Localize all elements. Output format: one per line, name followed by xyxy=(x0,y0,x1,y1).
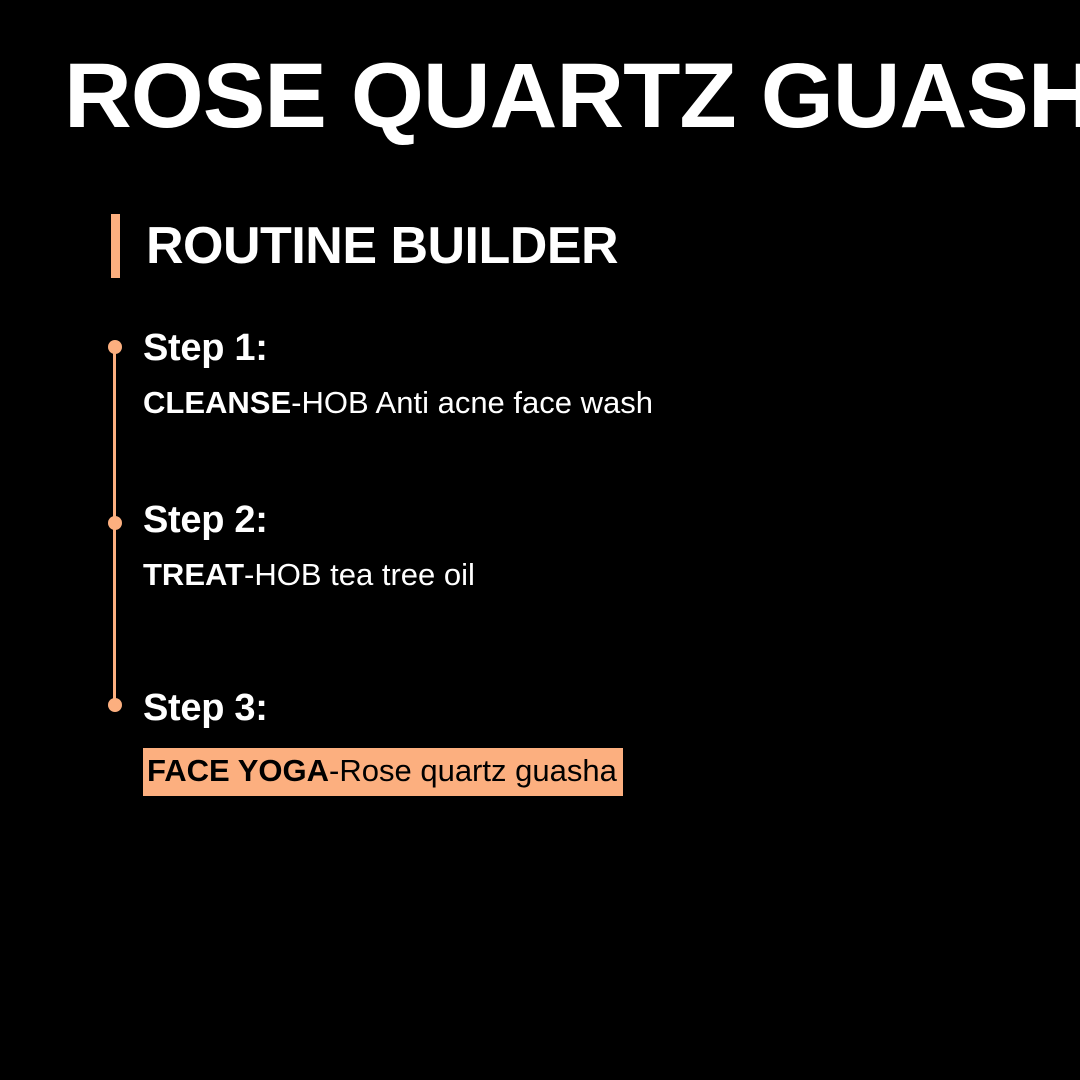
step-description-highlighted: FACE YOGA-Rose quartz guasha xyxy=(143,748,623,796)
step-item: Step 3: FACE YOGA-Rose quartz guasha xyxy=(143,686,623,796)
step-item: Step 2: TREAT-HOB tea tree oil xyxy=(143,498,475,594)
step-description: CLEANSE-HOB Anti acne face wash xyxy=(143,384,653,422)
timeline-dot-step-3 xyxy=(108,698,122,712)
section-heading-label: ROUTINE BUILDER xyxy=(146,218,618,274)
step-product: -HOB Anti acne face wash xyxy=(291,385,653,420)
step-label: Step 2: xyxy=(143,498,475,542)
section-heading: ROUTINE BUILDER xyxy=(111,214,618,278)
accent-bar-icon xyxy=(111,214,120,278)
step-description: TREAT-HOB tea tree oil xyxy=(143,556,475,594)
step-item: Step 1: CLEANSE-HOB Anti acne face wash xyxy=(143,326,653,422)
timeline-dot-step-2 xyxy=(108,516,122,530)
step-label: Step 3: xyxy=(143,686,623,730)
timeline-dot-step-1 xyxy=(108,340,122,354)
step-kind: CLEANSE xyxy=(143,385,291,420)
step-kind: TREAT xyxy=(143,557,244,592)
step-product: -Rose quartz guasha xyxy=(329,753,617,788)
step-product: -HOB tea tree oil xyxy=(244,557,475,592)
step-kind: FACE YOGA xyxy=(147,753,329,788)
step-label: Step 1: xyxy=(143,326,653,370)
page-title: ROSE QUARTZ GUASHA xyxy=(64,48,1043,144)
poster-canvas: ROSE QUARTZ GUASHA ROUTINE BUILDER Step … xyxy=(0,0,1080,1080)
